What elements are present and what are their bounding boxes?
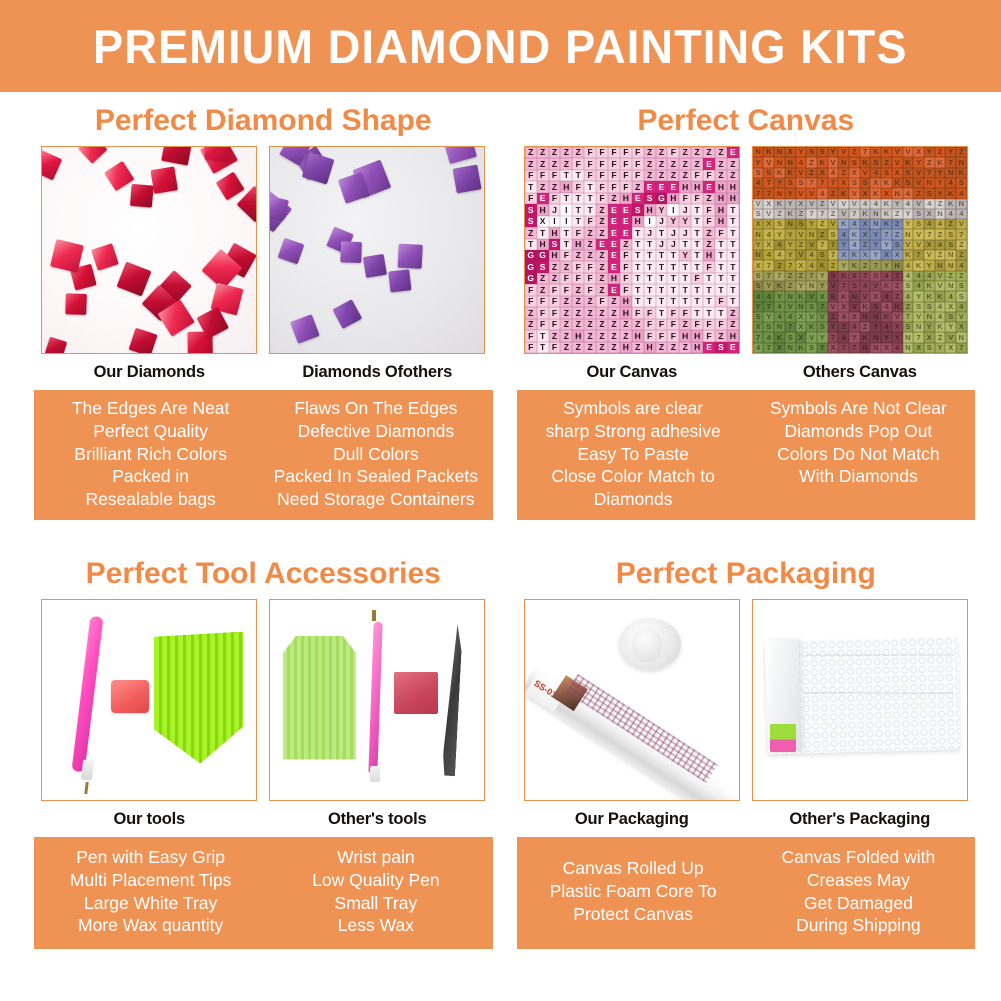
canvas-symbol-cell: S bbox=[525, 216, 537, 227]
canvas-symbol-cell: S bbox=[913, 209, 924, 219]
canvas-symbol-cell: S bbox=[945, 240, 956, 250]
canvas-symbol-cell: X bbox=[881, 250, 892, 260]
canvas-symbol-cell: F bbox=[679, 307, 691, 318]
canvas-symbol-cell: Y bbox=[785, 240, 796, 250]
canvas-symbol-cell: T bbox=[691, 216, 703, 227]
canvas-symbol-cell: Z bbox=[549, 147, 561, 158]
canvas-symbol-cell: Y bbox=[774, 178, 785, 188]
canvas-symbol-cell: Z bbox=[806, 168, 817, 178]
canvas-symbol-cell: F bbox=[596, 170, 608, 181]
canvas-symbol-cell: S bbox=[903, 168, 914, 178]
canvas-symbol-cell: T bbox=[656, 261, 668, 272]
canvas-symbol-cell: I bbox=[644, 216, 656, 227]
canvas-symbol-cell: Z bbox=[596, 307, 608, 318]
canvas-symbol-cell: V bbox=[849, 188, 860, 198]
infographic-page: PREMIUM DIAMOND PAINTING KITS Perfect Di… bbox=[0, 0, 1001, 1001]
canvas-symbol-cell: S bbox=[870, 302, 881, 312]
canvas-symbol-cell: Y bbox=[763, 312, 774, 322]
feature-list-our-diamonds: The Edges Are NeatPerfect QualityBrillia… bbox=[38, 397, 263, 511]
canvas-symbol-cell: K bbox=[913, 260, 924, 270]
feature-line: Pen with Easy Grip bbox=[40, 846, 261, 869]
canvas-symbol-cell: K bbox=[838, 291, 849, 301]
canvas-symbol-cell: H bbox=[632, 216, 644, 227]
canvas-symbol-cell: S bbox=[796, 219, 807, 229]
canvas-symbol-cell: 4 bbox=[774, 250, 785, 260]
canvas-symbol-cell: 7 bbox=[763, 188, 774, 198]
canvas-symbol-cell: N bbox=[860, 343, 871, 353]
canvas-symbol-cell: Y bbox=[828, 147, 839, 157]
canvas-symbol-cell: Z bbox=[838, 168, 849, 178]
feature-line: Multi Placement Tips bbox=[40, 869, 261, 892]
canvas-symbol-cell: H bbox=[572, 330, 584, 341]
canvas-symbol-cell: S bbox=[753, 271, 764, 281]
canvas-symbol-cell: Y bbox=[806, 219, 817, 229]
canvas-symbol-cell: Z bbox=[560, 158, 572, 169]
feature-line: sharp Strong adhesive bbox=[523, 420, 744, 443]
canvas-symbol-cell: V bbox=[838, 147, 849, 157]
canvas-symbol-cell: Y bbox=[945, 147, 956, 157]
canvas-symbol-cell: 4 bbox=[945, 178, 956, 188]
canvas-symbol-cell: V bbox=[913, 240, 924, 250]
canvas-symbol-cell: N bbox=[870, 312, 881, 322]
canvas-symbol-cell: F bbox=[572, 181, 584, 192]
canvas-symbol-cell: S bbox=[817, 322, 828, 332]
feature-line: Packed in bbox=[40, 465, 261, 488]
canvas-symbol-cell: S bbox=[924, 302, 935, 312]
canvas-symbol-cell: T bbox=[584, 193, 596, 204]
canvas-symbol-cell: 7 bbox=[945, 157, 956, 167]
feature-line: Flaws On The Edges bbox=[265, 397, 486, 420]
canvas-symbol-cell: X bbox=[763, 240, 774, 250]
canvas-symbol-cell: Y bbox=[817, 271, 828, 281]
canvas-symbol-cell: T bbox=[691, 204, 703, 215]
canvas-symbol-cell: F bbox=[608, 181, 620, 192]
canvas-symbol-cell: Z bbox=[537, 181, 549, 192]
canvas-symbol-cell: H bbox=[620, 342, 632, 353]
canvas-symbol-cell: Y bbox=[785, 229, 796, 239]
canvas-symbol-cell: F bbox=[620, 284, 632, 295]
image-purple-square-diamonds bbox=[269, 146, 485, 354]
feature-line: Close Color Match to bbox=[523, 465, 744, 488]
canvas-symbol-cell: 7 bbox=[838, 281, 849, 291]
canvas-symbol-cell: F bbox=[715, 296, 727, 307]
canvas-symbol-cell: Y bbox=[903, 219, 914, 229]
canvas-symbol-cell: Z bbox=[537, 147, 549, 158]
canvas-symbol-cell: 4 bbox=[774, 302, 785, 312]
canvas-symbol-cell: S bbox=[817, 250, 828, 260]
canvas-symbol-cell: T bbox=[727, 239, 739, 250]
canvas-symbol-cell: Z bbox=[774, 209, 785, 219]
canvas-symbol-cell: Y bbox=[924, 260, 935, 270]
canvas-symbol-cell: Y bbox=[881, 260, 892, 270]
caption-others-tools: Other's tools bbox=[328, 801, 427, 835]
feature-line: Get Damaged bbox=[748, 892, 969, 915]
canvas-symbol-cell: K bbox=[924, 291, 935, 301]
canvas-symbol-cell: Z bbox=[572, 307, 584, 318]
canvas-symbol-cell: Z bbox=[644, 158, 656, 169]
canvas-symbol-cell: Z bbox=[584, 296, 596, 307]
canvas-symbol-cell: T bbox=[727, 273, 739, 284]
canvas-symbol-cell: E bbox=[703, 342, 715, 353]
canvas-symbol-cell: K bbox=[870, 188, 881, 198]
canvas-symbol-cell: K bbox=[849, 250, 860, 260]
canvas-symbol-cell: F bbox=[596, 147, 608, 158]
canvas-symbol-cell: T bbox=[632, 273, 644, 284]
canvas-symbol-cell: F bbox=[560, 273, 572, 284]
canvas-symbol-cell: Z bbox=[632, 181, 644, 192]
canvas-symbol-cell: 7 bbox=[828, 240, 839, 250]
canvas-symbol-cell: V bbox=[860, 168, 871, 178]
diamond-gem bbox=[269, 196, 289, 220]
canvas-symbol-cell: T bbox=[727, 250, 739, 261]
content-grid: Perfect Diamond Shape Our Diamonds Diamo… bbox=[0, 92, 1001, 1001]
canvas-symbol-cell: X bbox=[849, 312, 860, 322]
canvas-symbol-cell: E bbox=[656, 181, 668, 192]
canvas-symbol-cell: S bbox=[913, 302, 924, 312]
diamond-gem bbox=[362, 254, 386, 278]
thumbnail-our-diamonds: Our Diamonds bbox=[41, 146, 257, 388]
canvas-symbol-cell: T bbox=[703, 307, 715, 318]
canvas-symbol-cell: N bbox=[796, 302, 807, 312]
canvas-symbol-cell: E bbox=[537, 193, 549, 204]
canvas-symbol-cell: 4 bbox=[870, 199, 881, 209]
canvas-symbol-cell: Z bbox=[560, 330, 572, 341]
section-title-diamond-shape: Perfect Diamond Shape bbox=[34, 92, 493, 146]
canvas-symbol-cell: X bbox=[796, 199, 807, 209]
canvas-symbol-cell: Z bbox=[572, 342, 584, 353]
diamond-gem bbox=[398, 244, 423, 269]
diamond-gem bbox=[205, 146, 230, 160]
canvas-symbol-cell: Y bbox=[870, 322, 881, 332]
canvas-symbol-cell: Z bbox=[806, 157, 817, 167]
feature-line: Dull Colors bbox=[265, 443, 486, 466]
canvas-symbol-cell: Y bbox=[679, 216, 691, 227]
canvas-symbol-cell: Y bbox=[774, 291, 785, 301]
canvas-symbol-cell: N bbox=[935, 260, 946, 270]
canvas-symbol-cell: T bbox=[560, 170, 572, 181]
canvas-symbol-cell: 7 bbox=[763, 271, 774, 281]
red-diamonds-art bbox=[42, 147, 256, 353]
canvas-symbol-cell: T bbox=[667, 250, 679, 261]
canvas-symbol-cell: Z bbox=[560, 342, 572, 353]
canvas-symbol-cell: F bbox=[572, 227, 584, 238]
canvas-symbol-cell: Z bbox=[785, 271, 796, 281]
canvas-symbol-cell: Z bbox=[608, 307, 620, 318]
caption-others-diamonds: Diamonds Ofothers bbox=[302, 354, 452, 388]
canvas-symbol-cell: H bbox=[549, 227, 561, 238]
canvas-symbol-cell: H bbox=[620, 296, 632, 307]
canvas-symbol-cell: 4 bbox=[881, 322, 892, 332]
canvas-symbol-cell: K bbox=[774, 199, 785, 209]
canvas-symbol-cell: V bbox=[935, 281, 946, 291]
canvas-symbol-cell: Z bbox=[537, 158, 549, 169]
canvas-symbol-cell: 4 bbox=[806, 250, 817, 260]
canvas-symbol-cell: H bbox=[620, 193, 632, 204]
canvas-symbol-cell: T bbox=[703, 273, 715, 284]
canvas-symbol-cell: 7 bbox=[817, 240, 828, 250]
canvas-symbol-cell: K bbox=[945, 188, 956, 198]
canvas-symbol-cell: V bbox=[828, 302, 839, 312]
canvas-symbol-cell: X bbox=[753, 219, 764, 229]
canvas-symbol-cell: E bbox=[727, 147, 739, 158]
canvas-symbol-cell: F bbox=[549, 319, 561, 330]
canvas-symbol-cell: 4 bbox=[753, 178, 764, 188]
canvas-symbol-cell: S bbox=[903, 178, 914, 188]
canvas-symbol-cell: E bbox=[608, 204, 620, 215]
canvas-symbol-cell: S bbox=[892, 240, 903, 250]
canvas-symbol-cell: T bbox=[656, 227, 668, 238]
canvas-symbol-cell: F bbox=[549, 193, 561, 204]
canvas-symbol-cell: N bbox=[753, 250, 764, 260]
canvas-symbol-cell: Z bbox=[549, 330, 561, 341]
canvas-symbol-cell: X bbox=[860, 219, 871, 229]
canvas-symbol-cell: F bbox=[632, 147, 644, 158]
canvas-symbol-cell: 4 bbox=[774, 312, 785, 322]
canvas-symbol-cell: K bbox=[860, 302, 871, 312]
diamond-gem bbox=[150, 167, 177, 194]
canvas-symbol-cell: 7 bbox=[774, 271, 785, 281]
canvas-symbol-cell: Z bbox=[632, 342, 644, 353]
canvas-symbol-cell: T bbox=[715, 284, 727, 295]
canvas-symbol-cell: T bbox=[727, 227, 739, 238]
wax-square-small bbox=[394, 672, 438, 714]
canvas-symbol-cell: 4 bbox=[849, 240, 860, 250]
canvas-symbol-cell: 7 bbox=[817, 302, 828, 312]
canvas-symbol-cell: 7 bbox=[753, 188, 764, 198]
section-title-packaging: Perfect Packaging bbox=[517, 547, 976, 599]
thumbnail-others-diamonds: Diamonds Ofothers bbox=[269, 146, 485, 388]
canvas-symbol-cell: F bbox=[572, 158, 584, 169]
feature-line: Wrist pain bbox=[265, 846, 486, 869]
canvas-symbol-cell: Z bbox=[537, 284, 549, 295]
canvas-symbol-cell: H bbox=[679, 330, 691, 341]
canvas-symbol-cell: V bbox=[860, 291, 871, 301]
canvas-symbol-cell: 4 bbox=[903, 188, 914, 198]
canvas-symbol-cell: J bbox=[644, 227, 656, 238]
canvas-symbol-cell: T bbox=[632, 239, 644, 250]
canvas-symbol-cell: S bbox=[881, 168, 892, 178]
canvas-symbol-cell: Z bbox=[956, 147, 967, 157]
canvas-symbol-cell: H bbox=[691, 181, 703, 192]
canvas-symbol-cell: N bbox=[860, 312, 871, 322]
caption-our-tools: Our tools bbox=[113, 801, 185, 835]
canvas-symbol-cell: S bbox=[913, 219, 924, 229]
canvas-symbol-cell: Y bbox=[763, 281, 774, 291]
canvas-symbol-cell: X bbox=[860, 188, 871, 198]
image-muddy-symbol-canvas: NKNXYSSYVZ7KKVVXYZYZYVNN4ZKVNSKSZVKYZK7N… bbox=[752, 146, 968, 354]
canvas-symbol-cell: Z bbox=[881, 157, 892, 167]
canvas-symbol-cell: 7 bbox=[785, 260, 796, 270]
canvas-symbol-cell: F bbox=[584, 158, 596, 169]
canvas-symbol-cell: T bbox=[644, 284, 656, 295]
diamond-gem bbox=[104, 161, 134, 191]
canvas-symbol-cell: T bbox=[572, 204, 584, 215]
canvas-symbol-cell: V bbox=[892, 147, 903, 157]
canvas-symbol-cell: T bbox=[703, 284, 715, 295]
canvas-symbol-cell: T bbox=[584, 204, 596, 215]
canvas-symbol-cell: Z bbox=[715, 147, 727, 158]
canvas-symbol-cell: 4 bbox=[924, 219, 935, 229]
feature-line: Plastic Foam Core To bbox=[523, 880, 744, 903]
canvas-symbol-cell: 7 bbox=[753, 332, 764, 342]
canvas-symbol-cell: Z bbox=[679, 158, 691, 169]
canvas-symbol-cell: 7 bbox=[763, 302, 774, 312]
canvas-symbol-cell: Z bbox=[860, 322, 871, 332]
canvas-symbol-cell: X bbox=[838, 302, 849, 312]
canvas-symbol-cell: Z bbox=[727, 158, 739, 169]
canvas-symbol-cell: V bbox=[838, 209, 849, 219]
canvas-symbol-cell: J bbox=[679, 204, 691, 215]
canvas-symbol-cell: 4 bbox=[763, 229, 774, 239]
canvas-symbol-cell: S bbox=[956, 291, 967, 301]
canvas-symbol-cell: E bbox=[620, 227, 632, 238]
canvas-symbol-cell: Y bbox=[785, 250, 796, 260]
canvas-symbol-cell: T bbox=[644, 250, 656, 261]
canvas-symbol-cell: S bbox=[849, 281, 860, 291]
canvas-symbol-cell: Z bbox=[608, 319, 620, 330]
canvas-symbol-cell: Y bbox=[913, 291, 924, 301]
canvas-symbol-cell: F bbox=[691, 193, 703, 204]
canvas-symbol-cell: 4 bbox=[828, 168, 839, 178]
canvas-symbol-cell: 4 bbox=[903, 291, 914, 301]
canvas-symbol-cell: Z bbox=[703, 147, 715, 158]
canvas-symbol-cell: V bbox=[753, 199, 764, 209]
canvas-symbol-cell: F bbox=[656, 319, 668, 330]
canvas-symbol-cell: 4 bbox=[913, 281, 924, 291]
feature-line: Perfect Quality bbox=[40, 420, 261, 443]
canvas-symbol-cell: 7 bbox=[785, 322, 796, 332]
canvas-symbol-cell: V bbox=[903, 147, 914, 157]
canvas-symbol-cell: Z bbox=[945, 219, 956, 229]
rolled-tube-art: SS-011 bbox=[525, 600, 739, 800]
canvas-symbol-cell: T bbox=[727, 261, 739, 272]
canvas-symbol-cell: J bbox=[549, 204, 561, 215]
canvas-symbol-cell: 4 bbox=[838, 332, 849, 342]
canvas-symbol-cell: H bbox=[620, 307, 632, 318]
canvas-symbol-cell: H bbox=[644, 342, 656, 353]
canvas-symbol-cell: S bbox=[806, 302, 817, 312]
canvas-symbol-cell: Z bbox=[715, 330, 727, 341]
canvas-symbol-cell: 4 bbox=[913, 271, 924, 281]
pen-tip bbox=[81, 759, 94, 780]
canvas-symbol-cell: 4 bbox=[935, 219, 946, 229]
canvas-symbol-cell: 4 bbox=[892, 343, 903, 353]
canvas-symbol-cell: F bbox=[691, 319, 703, 330]
canvas-symbol-cell: H bbox=[715, 181, 727, 192]
canvas-symbol-cell: S bbox=[753, 209, 764, 219]
canvas-symbol-cell: K bbox=[817, 157, 828, 167]
canvas-symbol-cell: 4 bbox=[849, 322, 860, 332]
canvas-symbol-cell: 7 bbox=[763, 178, 774, 188]
canvas-symbol-cell: 4 bbox=[903, 260, 914, 270]
canvas-symbol-cell: 4 bbox=[945, 291, 956, 301]
canvas-symbol-cell: S bbox=[828, 271, 839, 281]
page-header: PREMIUM DIAMOND PAINTING KITS bbox=[0, 0, 1001, 92]
canvas-symbol-cell: N bbox=[774, 188, 785, 198]
canvas-symbol-cell: Z bbox=[549, 158, 561, 169]
diamond-gem bbox=[65, 294, 86, 315]
canvas-symbol-cell: Z bbox=[620, 239, 632, 250]
canvas-symbol-cell: F bbox=[560, 284, 572, 295]
canvas-symbol-cell: 7 bbox=[860, 271, 871, 281]
canvas-symbol-cell: V bbox=[796, 188, 807, 198]
canvas-symbol-cell: Z bbox=[596, 342, 608, 353]
canvas-symbol-cell: F bbox=[525, 170, 537, 181]
canvas-symbol-cell: V bbox=[817, 312, 828, 322]
canvas-symbol-cell: Z bbox=[703, 193, 715, 204]
canvas-symbol-cell: J bbox=[679, 227, 691, 238]
canvas-symbol-cell: 7 bbox=[806, 271, 817, 281]
canvas-symbol-cell: T bbox=[632, 261, 644, 272]
pink-symbol-grid-art: ZZZZZFFFFFZZFZZZZEZZZZFFFFFFZZZZZEZZFFFT… bbox=[525, 147, 739, 353]
canvas-symbol-cell: G bbox=[537, 250, 549, 261]
canvas-symbol-cell: S bbox=[806, 147, 817, 157]
feature-panel-tools: Pen with Easy GripMulti Placement TipsLa… bbox=[34, 837, 493, 949]
canvas-symbol-cell: T bbox=[727, 284, 739, 295]
canvas-symbol-cell: F bbox=[537, 170, 549, 181]
canvas-symbol-cell: 4 bbox=[860, 199, 871, 209]
canvas-symbol-cell: S bbox=[785, 178, 796, 188]
canvas-symbol-cell: H bbox=[644, 204, 656, 215]
canvas-symbol-cell: Z bbox=[935, 229, 946, 239]
diamond-gem bbox=[117, 262, 152, 297]
canvas-symbol-cell: F bbox=[620, 170, 632, 181]
canvas-symbol-cell: Z bbox=[560, 147, 572, 158]
canvas-symbol-cell: T bbox=[703, 296, 715, 307]
canvas-symbol-cell: Z bbox=[525, 147, 537, 158]
canvas-symbol-cell: Z bbox=[656, 147, 668, 158]
canvas-symbol-cell: 4 bbox=[838, 229, 849, 239]
canvas-symbol-cell: 7 bbox=[763, 343, 774, 353]
thumbnail-others-canvas: NKNXYSSYVZ7KKVVXYZYZYVNN4ZKVNSKSZVKYZK7N… bbox=[752, 146, 968, 388]
canvas-symbol-cell: S bbox=[903, 322, 914, 332]
canvas-symbol-cell: F bbox=[620, 158, 632, 169]
canvas-symbol-cell: Z bbox=[703, 239, 715, 250]
canvas-symbol-cell: 4 bbox=[860, 281, 871, 291]
canvas-symbol-cell: 4 bbox=[924, 271, 935, 281]
canvas-symbol-cell: T bbox=[679, 273, 691, 284]
tweezers bbox=[442, 623, 463, 775]
canvas-symbol-cell: F bbox=[537, 319, 549, 330]
canvas-symbol-cell: F bbox=[632, 158, 644, 169]
canvas-symbol-cell: F bbox=[525, 296, 537, 307]
canvas-symbol-cell: F bbox=[632, 170, 644, 181]
canvas-symbol-cell: X bbox=[817, 168, 828, 178]
canvas-symbol-cell: N bbox=[892, 260, 903, 270]
canvas-symbol-cell: T bbox=[691, 239, 703, 250]
canvas-symbol-cell: X bbox=[796, 332, 807, 342]
canvas-symbol-cell: F bbox=[584, 273, 596, 284]
canvas-symbol-cell: K bbox=[881, 281, 892, 291]
canvas-symbol-cell: E bbox=[667, 181, 679, 192]
canvas-symbol-cell: Z bbox=[935, 199, 946, 209]
canvas-symbol-cell: V bbox=[806, 291, 817, 301]
canvas-symbol-cell: Z bbox=[537, 273, 549, 284]
canvas-symbol-cell: N bbox=[903, 343, 914, 353]
feature-panel-diamond-shape: The Edges Are NeatPerfect QualityBrillia… bbox=[34, 390, 493, 520]
canvas-symbol-cell: E bbox=[608, 227, 620, 238]
canvas-symbol-cell: Z bbox=[584, 330, 596, 341]
image-rolled-canvas-tube: SS-011 bbox=[524, 599, 740, 801]
canvas-symbol-cell: I bbox=[560, 204, 572, 215]
tube-cap-inner bbox=[632, 628, 662, 662]
canvas-symbol-cell: N bbox=[956, 332, 967, 342]
feature-list-our-tools: Pen with Easy GripMulti Placement TipsLa… bbox=[38, 846, 263, 937]
canvas-symbol-cell: N bbox=[838, 157, 849, 167]
canvas-symbol-cell: Z bbox=[560, 319, 572, 330]
canvas-symbol-cell: Y bbox=[753, 157, 764, 167]
canvas-symbol-cell: T bbox=[632, 250, 644, 261]
